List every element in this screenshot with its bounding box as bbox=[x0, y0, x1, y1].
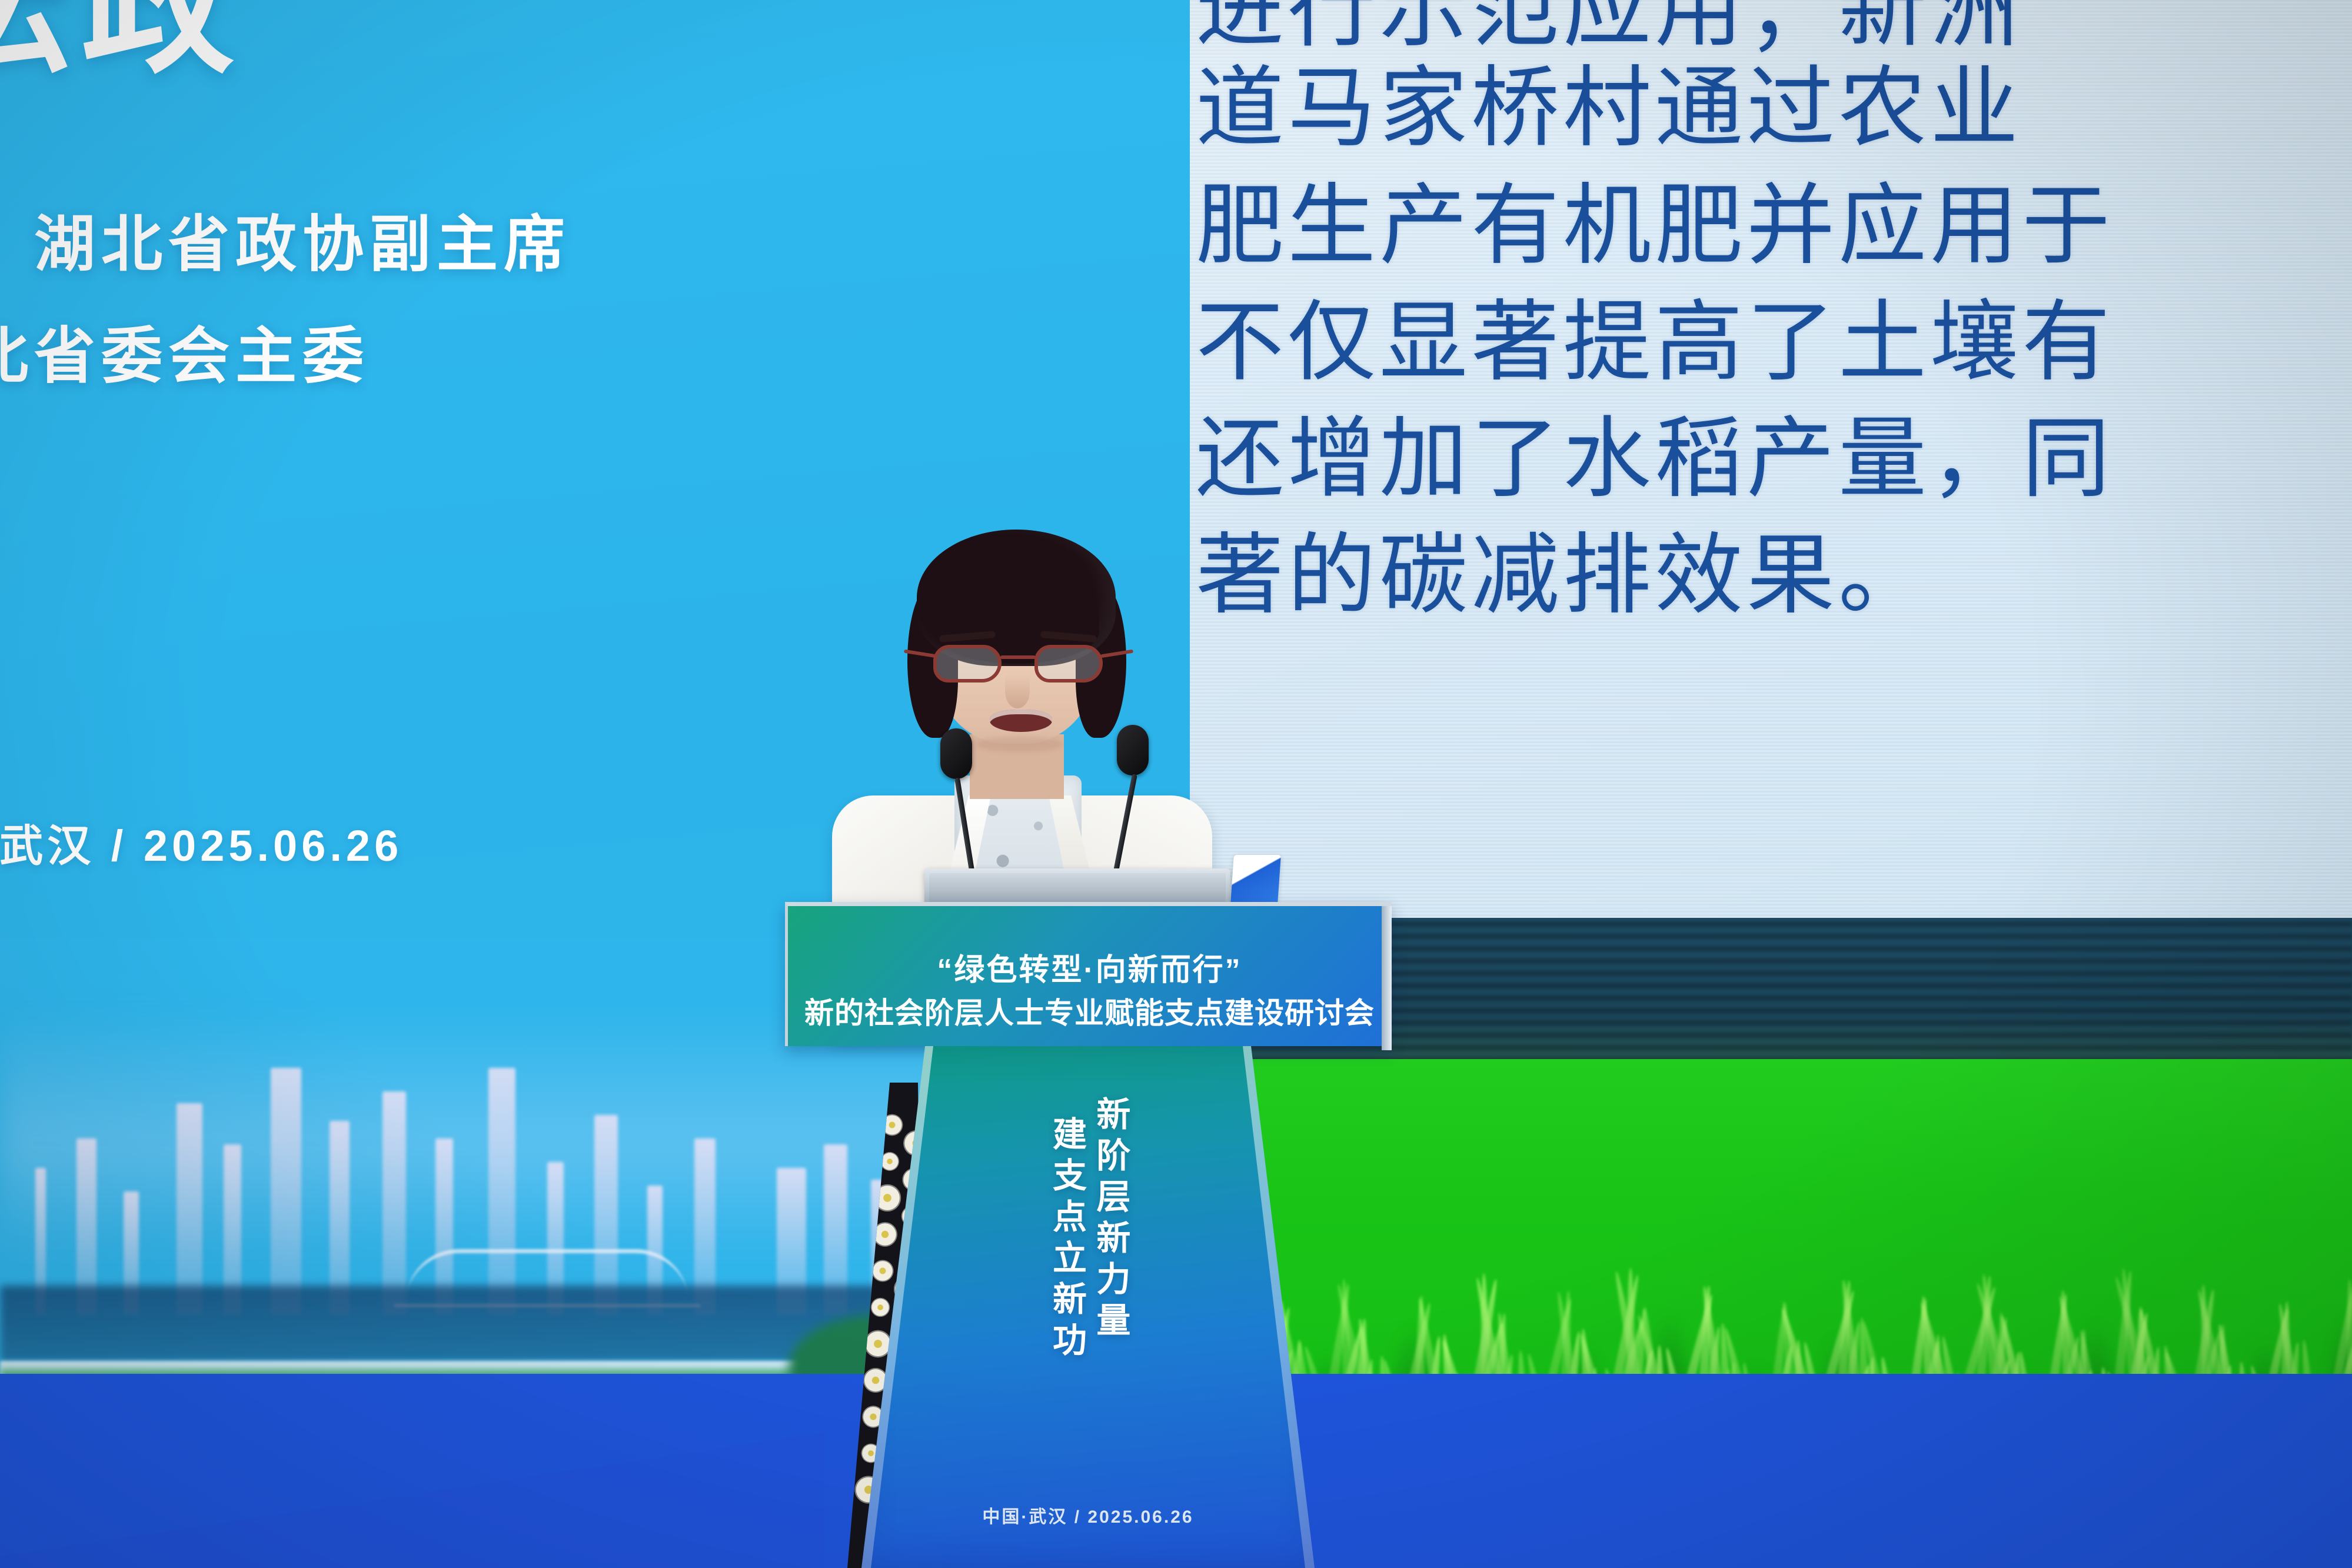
projection-screen: 进行示范应用；新洲 道马家桥村通过农业 肥生产有机肥并应用于 不仅显著提高了土壤… bbox=[1190, 0, 2352, 918]
blue-folder[interactable] bbox=[1230, 855, 1281, 904]
backdrop-credit-line-1: 委、湖北省政协副主席 bbox=[0, 194, 571, 283]
city-tower bbox=[382, 1091, 406, 1315]
podium-date-line: 中国·武汉 / 2025.06.26 bbox=[785, 1502, 1391, 1528]
city-tower bbox=[271, 1068, 301, 1315]
backdrop-date-line: · 武汉 / 2025.06.26 bbox=[0, 811, 402, 874]
glasses-bridge bbox=[1000, 655, 1036, 659]
backdrop-big-title: 坛政 bbox=[0, 0, 245, 82]
screen-text-line-3: 肥生产有机肥并应用于 bbox=[1196, 154, 2114, 282]
confidence-monitor-screen bbox=[929, 873, 1226, 904]
podium-event-title: 新的社会阶层人士专业赋能支点建设研讨会 bbox=[788, 990, 1391, 1032]
podium-header-panel: “绿色转型·向新而行” 新的社会阶层人士专业赋能支点建设研讨会 bbox=[785, 902, 1391, 1046]
podium: “绿色转型·向新而行” 新的社会阶层人士专业赋能支点建设研讨会 建支点立新功 新… bbox=[785, 902, 1391, 1568]
screen-text-line-4: 不仅显著提高了土壤有 bbox=[1196, 271, 2114, 398]
stage-scene: 坛政 委、湖北省政协副主席 湖北省委会主委 · 武汉 / 2025.06.26 … bbox=[0, 0, 2352, 1568]
chin-shadow bbox=[976, 737, 1064, 752]
mouth bbox=[990, 710, 1052, 732]
microphone-right-head bbox=[1117, 725, 1149, 775]
screen-text-line-5: 还增加了水稻产量，同 bbox=[1196, 387, 2114, 515]
microphone-left-head bbox=[940, 728, 972, 779]
screen-text-line-2: 道马家桥村通过农业 bbox=[1196, 36, 2022, 164]
podium-vertical-slogans: 建支点立新功 新阶层新力量 bbox=[785, 1096, 1391, 1363]
confidence-monitor[interactable] bbox=[924, 868, 1230, 904]
lens-right bbox=[1034, 645, 1103, 683]
lens-left bbox=[933, 645, 1002, 683]
nose bbox=[1005, 674, 1030, 708]
podium-slogan-left: 建支点立新功 bbox=[1049, 1116, 1084, 1363]
screen-text-line-6: 著的碳减排效果。 bbox=[1196, 504, 1930, 631]
backdrop-credit-line-2: 湖北省委会主委 bbox=[0, 306, 370, 395]
city-tower bbox=[177, 1103, 202, 1315]
podium-slogan-right: 新阶层新力量 bbox=[1092, 1096, 1127, 1363]
podium-theme-quote: “绿色转型·向新而行” bbox=[788, 945, 1391, 989]
